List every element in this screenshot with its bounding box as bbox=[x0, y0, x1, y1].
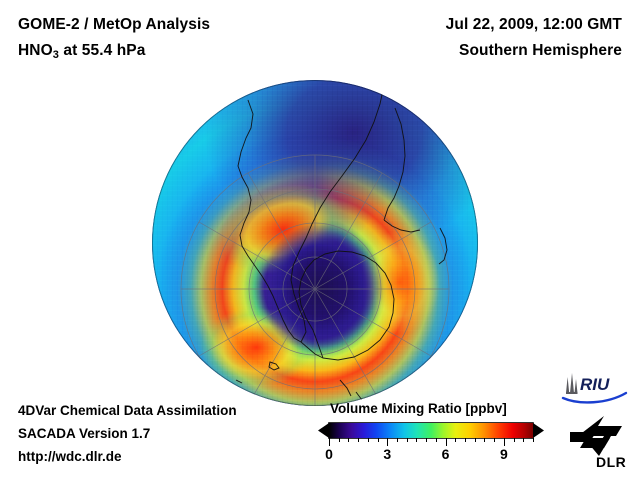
species-level-label: HNO3 at 55.4 hPa bbox=[18, 42, 145, 61]
figure-canvas: GOME-2 / MetOp Analysis HNO3 at 55.4 hPa… bbox=[0, 0, 640, 480]
colorbar-minor-tick bbox=[426, 438, 427, 442]
colorbar-minor-tick bbox=[368, 438, 369, 442]
colorbar-minor-tick bbox=[358, 438, 359, 442]
method-label: 4DVar Chemical Data Assimilation bbox=[18, 403, 237, 418]
colorbar-tick-label: 9 bbox=[500, 446, 508, 462]
colorbar-title: Volume Mixing Ratio [ppbv] bbox=[330, 401, 507, 416]
riu-tower-icon bbox=[566, 373, 578, 394]
colorbar-major-tick bbox=[329, 438, 330, 446]
colorbar-tick-labels: 0369 bbox=[0, 446, 640, 466]
species-formula-prefix: HNO bbox=[18, 42, 53, 59]
dlr-logo: DLR bbox=[566, 414, 634, 470]
colorbar-minor-tick bbox=[339, 438, 340, 442]
colorbar-tick-label: 6 bbox=[442, 446, 450, 462]
colorbar-minor-tick bbox=[484, 438, 485, 442]
colorbar-minor-tick bbox=[465, 438, 466, 442]
dlr-wordmark: DLR bbox=[596, 454, 626, 470]
colorbar-minor-tick bbox=[407, 438, 408, 442]
colorbar-minor-tick bbox=[475, 438, 476, 442]
colorbar-minor-tick bbox=[494, 438, 495, 442]
page-title: GOME-2 / MetOp Analysis bbox=[18, 16, 210, 34]
timestamp-label: Jul 22, 2009, 12:00 GMT bbox=[446, 16, 622, 34]
riu-swoosh-icon bbox=[563, 393, 626, 402]
colorbar-minor-tick bbox=[416, 438, 417, 442]
hemisphere-label: Southern Hemisphere bbox=[459, 42, 622, 60]
pressure-level-text: at 55.4 hPa bbox=[59, 42, 146, 59]
globe-limb-outline bbox=[152, 80, 478, 406]
version-label: SACADA Version 1.7 bbox=[18, 426, 150, 441]
colorbar-extend-high-arrow bbox=[533, 423, 544, 438]
colorbar-tick-label: 3 bbox=[383, 446, 391, 462]
colorbar-minor-tick bbox=[348, 438, 349, 442]
colorbar-minor-tick bbox=[378, 438, 379, 442]
colorbar-major-tick bbox=[504, 438, 505, 446]
colorbar-minor-tick bbox=[455, 438, 456, 442]
colorbar bbox=[318, 421, 544, 440]
riu-logo: RIU bbox=[559, 371, 629, 405]
colorbar-minor-tick bbox=[523, 438, 524, 442]
colorbar-minor-tick bbox=[397, 438, 398, 442]
colorbar-tick-label: 0 bbox=[325, 446, 333, 462]
colorbar-extend-low-arrow bbox=[318, 423, 329, 438]
colorbar-major-tick bbox=[446, 438, 447, 446]
colorbar-gradient bbox=[329, 423, 533, 438]
colorbar-major-tick bbox=[387, 438, 388, 446]
polar-stereographic-map bbox=[152, 80, 478, 406]
dlr-mark-icon bbox=[570, 416, 622, 456]
riu-wordmark: RIU bbox=[580, 375, 610, 394]
colorbar-minor-tick bbox=[533, 438, 534, 442]
globe-disc bbox=[152, 80, 478, 406]
colorbar-minor-tick bbox=[436, 438, 437, 442]
colorbar-minor-tick bbox=[514, 438, 515, 442]
